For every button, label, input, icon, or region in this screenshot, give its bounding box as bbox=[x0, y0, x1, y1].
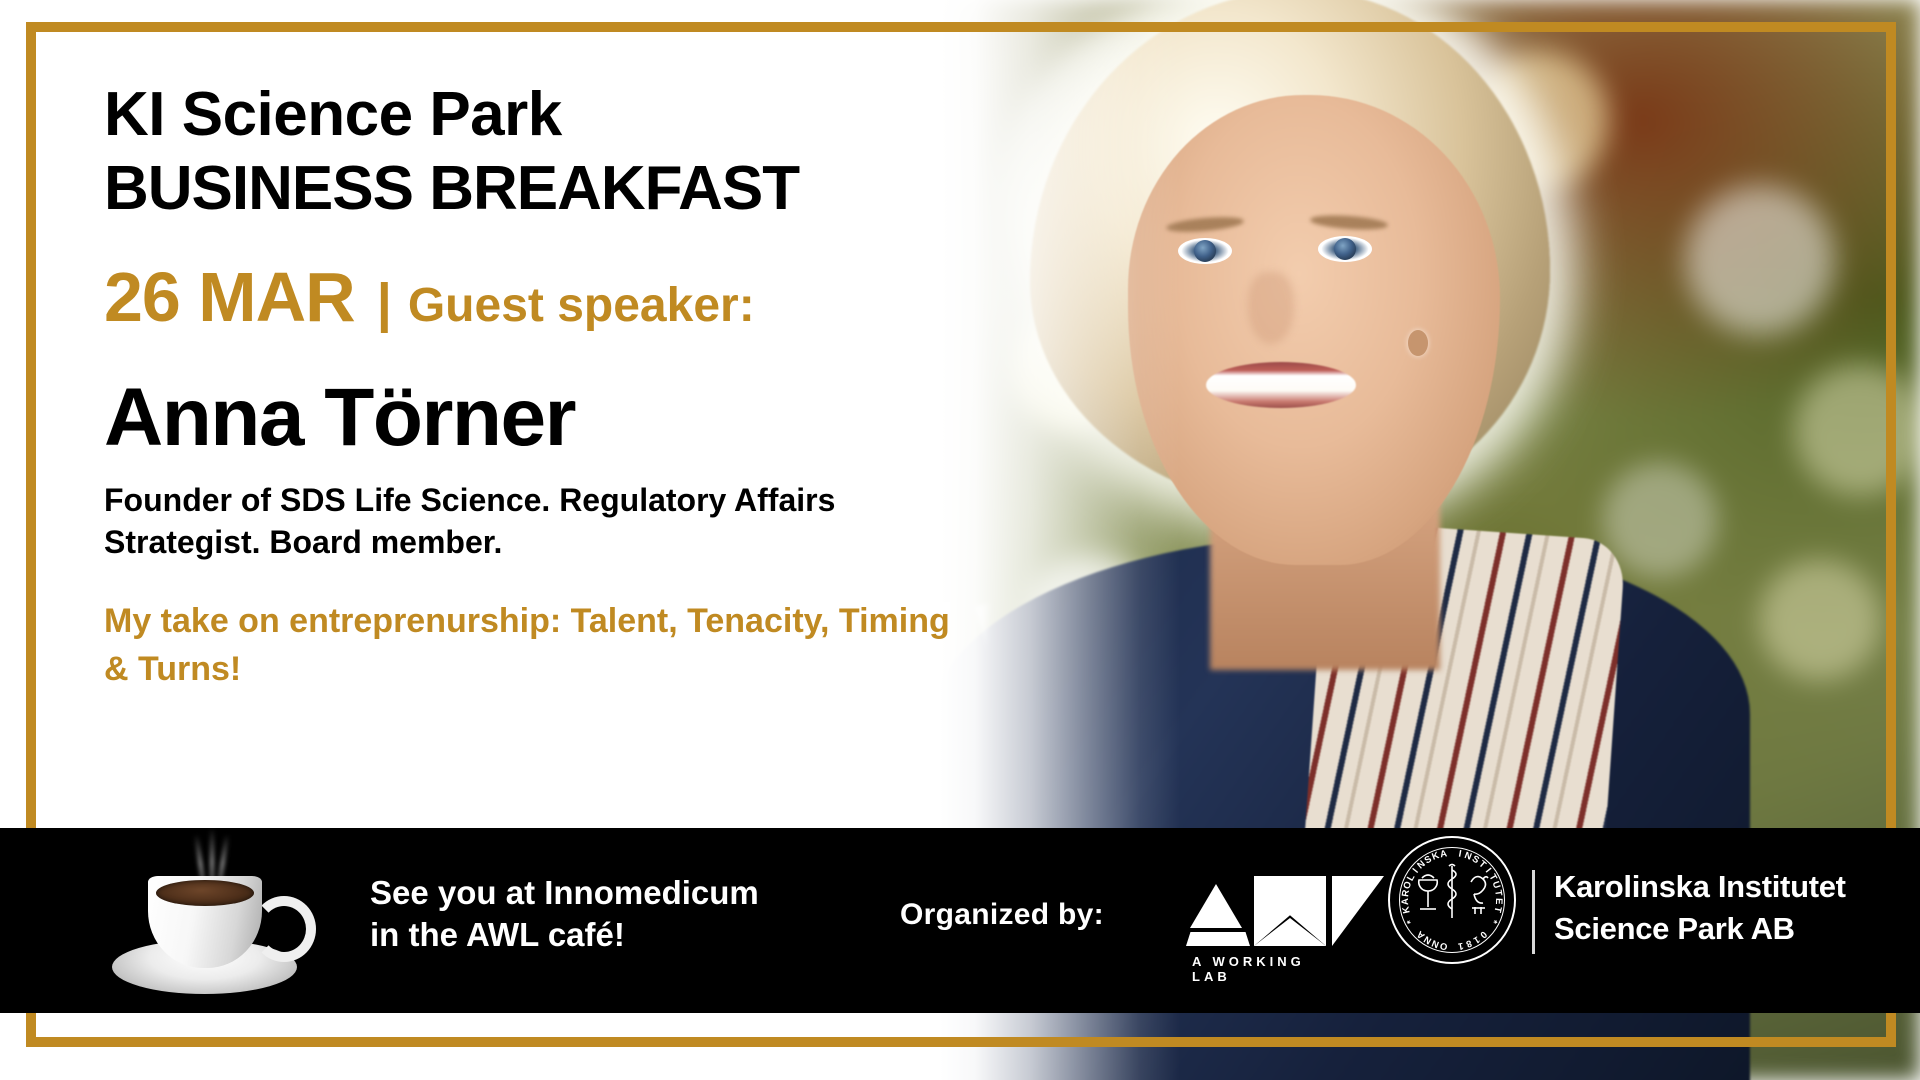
venue-line-1: See you at Innomedicum bbox=[370, 872, 759, 914]
awl-triangle-l-icon bbox=[1332, 876, 1384, 946]
ki-logo-line-2: Science Park AB bbox=[1554, 908, 1846, 950]
speaker-role: Founder of SDS Life Science. Regulatory … bbox=[104, 479, 894, 563]
event-date: 26 MAR bbox=[104, 260, 355, 334]
ki-logo-line-1: Karolinska Institutet bbox=[1554, 866, 1846, 908]
guest-speaker-label: Guest speaker: bbox=[408, 269, 755, 343]
talk-title-text: My take on entreprenurship: Talent, Tena… bbox=[104, 602, 950, 688]
pupil-left bbox=[1194, 240, 1216, 262]
face bbox=[1128, 95, 1500, 565]
ki-science-park-logo: Karolinska Institutet Science Park AB bbox=[1554, 866, 1846, 950]
venue-line-2: in the AWL café! bbox=[370, 914, 759, 956]
separator-pipe: | bbox=[377, 266, 392, 340]
awl-triangle-a-icon bbox=[1190, 884, 1242, 928]
awl-logo-marks bbox=[1190, 874, 1350, 948]
poster-text-block: KI Science Park BUSINESS BREAKFAST 26 MA… bbox=[104, 78, 1004, 693]
seal-emblem-icon bbox=[1409, 862, 1495, 928]
coffee-surface bbox=[156, 880, 254, 906]
event-poster: KI Science Park BUSINESS BREAKFAST 26 MA… bbox=[0, 0, 1920, 1080]
a-working-lab-logo: A WORKING LAB bbox=[1190, 874, 1350, 974]
nose bbox=[1248, 272, 1294, 344]
speaker-name: Anna Törner bbox=[104, 373, 1004, 463]
awl-a-crossbar-icon bbox=[1186, 932, 1250, 946]
karolinska-institutet-seal-icon: KAROLINSKA INSTITUTET * ANNO 1810 * bbox=[1388, 836, 1516, 964]
smile bbox=[1206, 362, 1356, 408]
date-and-guest-row: 26 MAR | Guest speaker: bbox=[104, 260, 1004, 343]
pupil-right bbox=[1334, 238, 1356, 260]
earring-icon bbox=[1408, 330, 1428, 356]
organizer-title: KI Science Park bbox=[104, 78, 1004, 152]
venue-text: See you at Innomedicum in the AWL café! bbox=[370, 872, 759, 956]
event-title: BUSINESS BREAKFAST bbox=[104, 152, 1004, 226]
coffee-cup-icon bbox=[112, 844, 297, 1004]
logo-divider bbox=[1532, 870, 1535, 954]
awl-wordmark: A WORKING LAB bbox=[1192, 954, 1350, 984]
talk-title: My take on entreprenurship: Talent, Tena… bbox=[104, 597, 964, 693]
organized-by-label: Organized by: bbox=[900, 898, 1104, 932]
